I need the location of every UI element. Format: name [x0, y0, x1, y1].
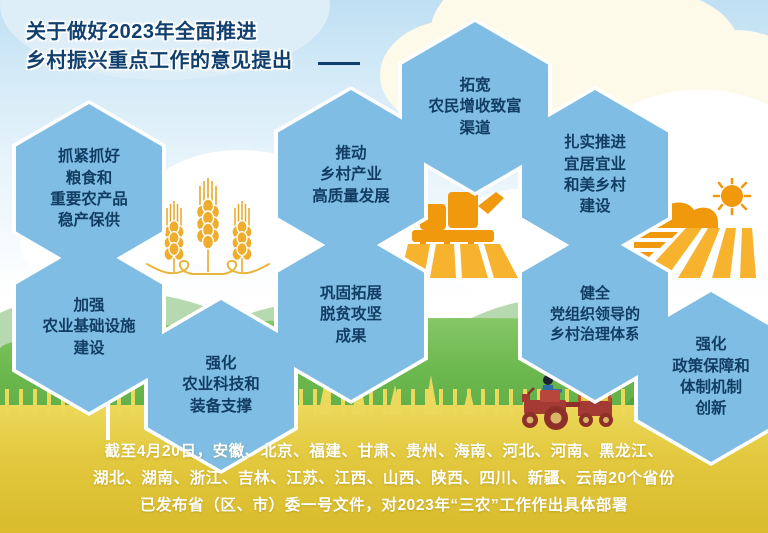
hexagon-label: 巩固拓展 脱贫攻坚 成果	[314, 283, 388, 347]
infographic-poster: 关于做好2023年全面推进 乡村振兴重点工作的意见提出 抓紧抓好 粮食和 重要农…	[0, 0, 768, 533]
hexagon-label: 拓宽 农民增收致富 渠道	[422, 75, 527, 139]
hexagon-label: 强化 政策保障和 体制机制 创新	[666, 334, 756, 420]
hexagon-label: 扎实推进 宜居宜业 和美乡村 建设	[558, 132, 632, 218]
page-title: 关于做好2023年全面推进 乡村振兴重点工作的意见提出	[26, 18, 293, 76]
hexagon-label: 健全 党组织领导的 乡村治理体系	[544, 284, 646, 346]
hexagon-label: 强化 农业科技和 装备支撑	[176, 353, 266, 417]
title-dash-rule	[318, 62, 360, 65]
wheat-tuft	[462, 387, 476, 415]
footer-caption: 截至4月20日，安徽、北京、福建、甘肃、贵州、海南、河北、河南、黑龙江、 湖北、…	[0, 438, 768, 519]
hexagon-label: 抓紧抓好 粮食和 重要农产品 稳产保供	[44, 146, 134, 232]
wheat-tuft	[424, 375, 438, 415]
hexagon-label: 加强 农业基础设施 建设	[36, 295, 141, 359]
hexagon-label: 推动 乡村产业 高质量发展	[306, 143, 396, 207]
wheat-tuft	[388, 385, 402, 415]
